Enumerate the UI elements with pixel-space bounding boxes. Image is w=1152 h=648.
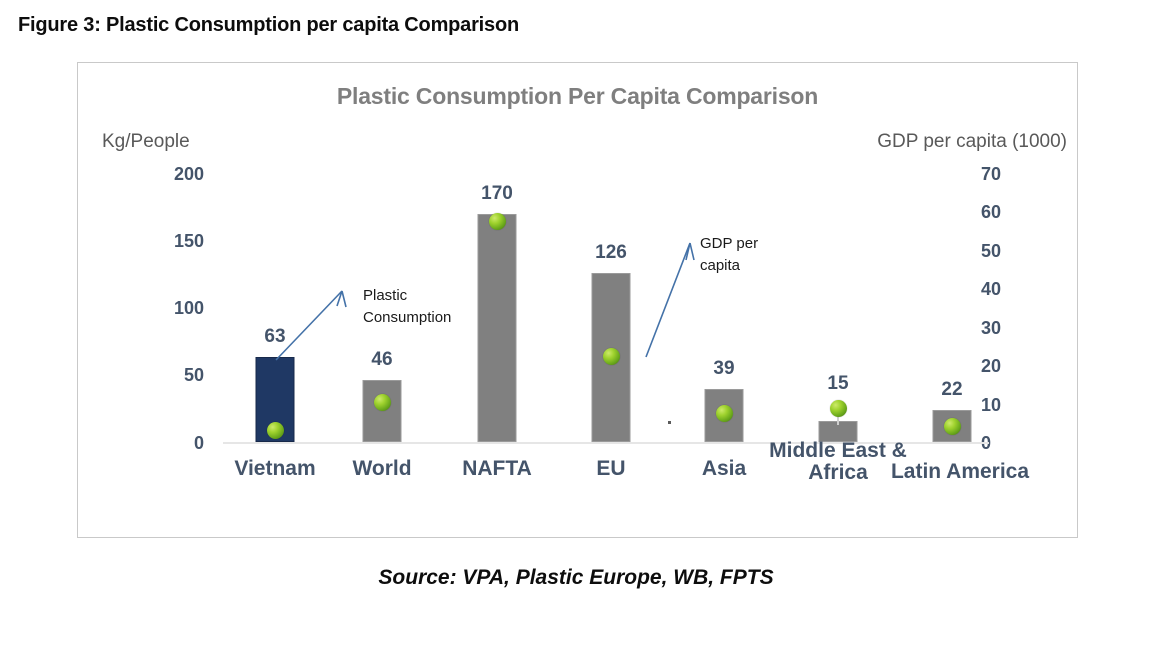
arrowhead-gdp bbox=[686, 243, 694, 260]
leader-line-plastic bbox=[276, 291, 342, 360]
annotation-plastic-consumption: Plastic Consumption bbox=[363, 285, 451, 329]
annotation-gdp-per-capita: GDP per capita bbox=[700, 233, 758, 277]
chart-frame: Plastic Consumption Per Capita Compariso… bbox=[77, 62, 1078, 538]
category-labels: Vietnam World NAFTA EU Asia Middle East … bbox=[223, 448, 968, 518]
figure-caption: Figure 3: Plastic Consumption per capita… bbox=[18, 14, 519, 37]
leader-line-gdp bbox=[646, 243, 690, 357]
arrowhead-plastic bbox=[337, 291, 346, 307]
source-note: Source: VPA, Plastic Europe, WB, FPTS bbox=[0, 566, 1152, 590]
stray-dot-marker bbox=[668, 421, 671, 424]
category-label-latin-america: Latin America bbox=[885, 461, 1035, 483]
